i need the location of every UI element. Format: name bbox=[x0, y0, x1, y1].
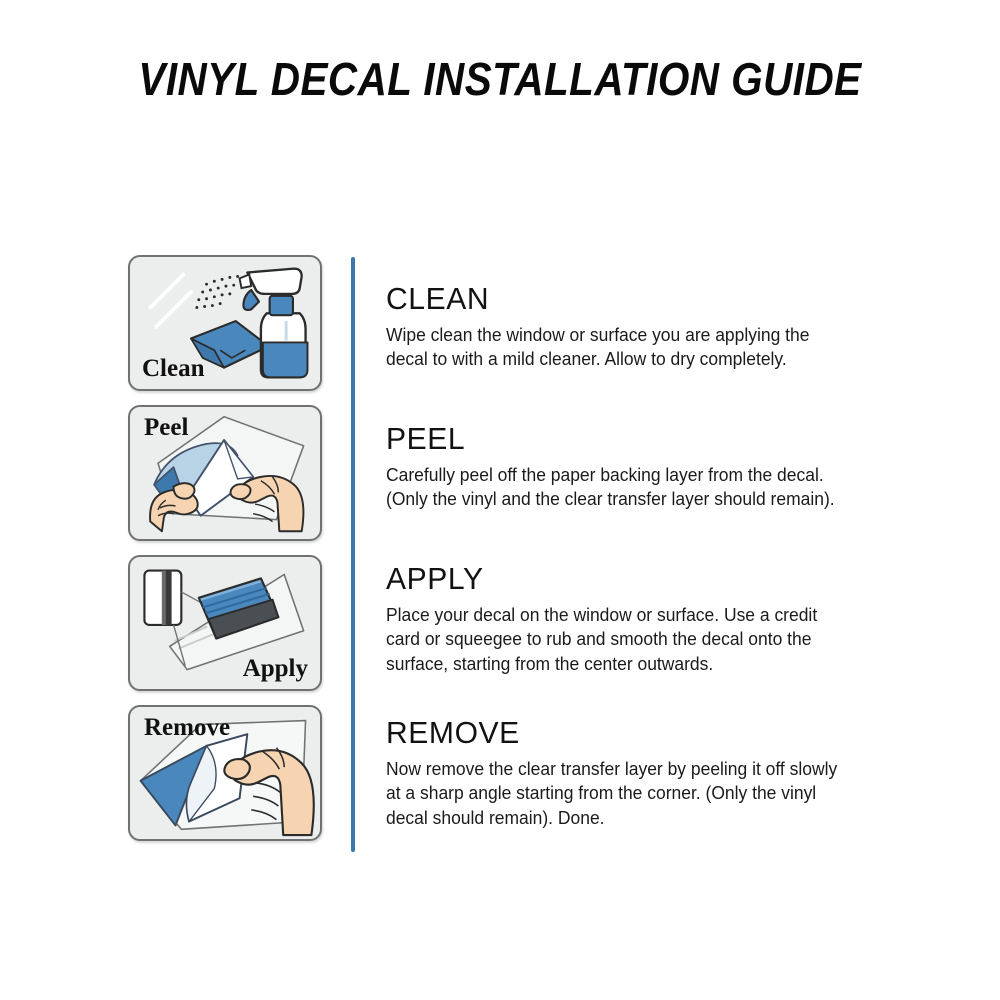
panel-caption-remove: Remove bbox=[144, 715, 230, 740]
step-apply: APPLY Place your decal on the window or … bbox=[386, 563, 916, 676]
panel-clean: Clean bbox=[128, 255, 322, 391]
step-heading-clean: CLEAN bbox=[386, 283, 900, 314]
panel-apply: Apply bbox=[128, 555, 322, 691]
panel-remove: Remove bbox=[128, 705, 322, 841]
step-peel: PEEL Carefully peel off the paper backin… bbox=[386, 423, 916, 512]
step-heading-apply: APPLY bbox=[386, 563, 900, 594]
step-heading-peel: PEEL bbox=[386, 423, 900, 454]
guide-content: Clean bbox=[0, 255, 1000, 855]
step-clean: CLEAN Wipe clean the window or surface y… bbox=[386, 283, 916, 372]
step-heading-remove: REMOVE bbox=[386, 717, 900, 748]
step-body-apply: Place your decal on the window or surfac… bbox=[386, 603, 890, 676]
vertical-divider bbox=[351, 257, 355, 852]
page-title: VINYL DECAL INSTALLATION GUIDE bbox=[60, 52, 940, 106]
step-body-peel: Carefully peel off the paper backing lay… bbox=[386, 463, 890, 512]
step-body-remove: Now remove the clear transfer layer by p… bbox=[386, 757, 890, 830]
panel-caption-peel: Peel bbox=[144, 415, 188, 440]
step-remove: REMOVE Now remove the clear transfer lay… bbox=[386, 717, 916, 830]
panel-peel: Peel bbox=[128, 405, 322, 541]
step-body-clean: Wipe clean the window or surface you are… bbox=[386, 323, 890, 372]
illustration-panel-column: Clean bbox=[128, 255, 324, 855]
panel-caption-clean: Clean bbox=[142, 356, 205, 381]
panel-caption-apply: Apply bbox=[243, 656, 308, 681]
